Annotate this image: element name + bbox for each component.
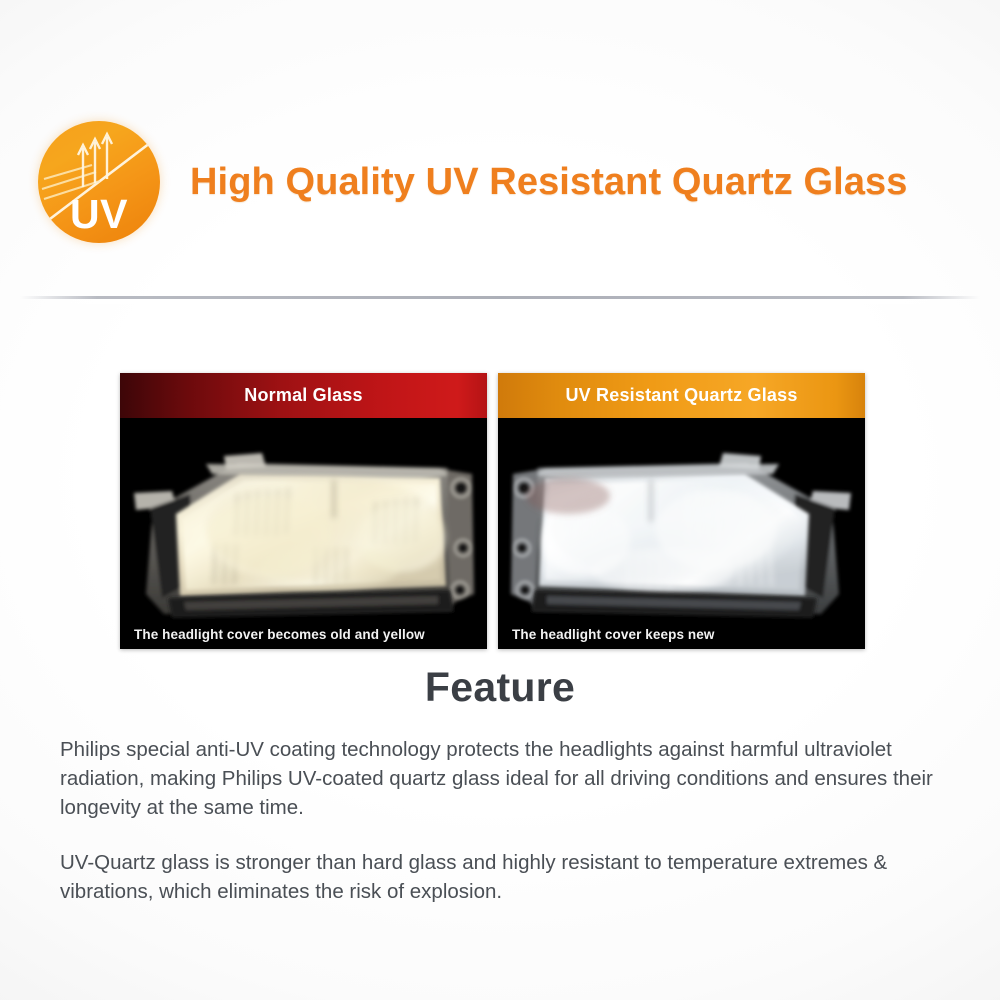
- badge-label: UV: [38, 121, 160, 243]
- panel-caption: The headlight cover keeps new: [498, 620, 865, 649]
- comparison-gallery: Normal Glass: [120, 373, 865, 649]
- comparison-panel-uv-quartz-glass: UV Resistant Quartz Glass: [498, 373, 865, 649]
- panel-caption: The headlight cover becomes old and yell…: [120, 620, 487, 649]
- feature-paragraph-1: Philips special anti-UV coating technolo…: [60, 735, 955, 822]
- comparison-panel-normal-glass: Normal Glass: [120, 373, 487, 649]
- uv-shield-icon: UV: [32, 115, 166, 249]
- yellowed-headlight-photo: The headlight cover becomes old and yell…: [120, 418, 487, 649]
- feature-paragraph-2: UV-Quartz glass is stronger than hard gl…: [60, 848, 955, 906]
- page-header: UV High Quality UV Resistant Quartz Glas…: [0, 112, 1000, 252]
- feature-description: Philips special anti-UV coating technolo…: [60, 735, 955, 906]
- panel-header-label: Normal Glass: [120, 373, 487, 418]
- header-divider-highlight: [20, 299, 980, 304]
- product-feature-page: UV High Quality UV Resistant Quartz Glas…: [0, 0, 1000, 1000]
- panel-header-label: UV Resistant Quartz Glass: [498, 373, 865, 418]
- clear-headlight-photo: The headlight cover keeps new: [498, 418, 865, 649]
- page-title: High Quality UV Resistant Quartz Glass: [190, 161, 908, 204]
- feature-heading: Feature: [0, 664, 1000, 711]
